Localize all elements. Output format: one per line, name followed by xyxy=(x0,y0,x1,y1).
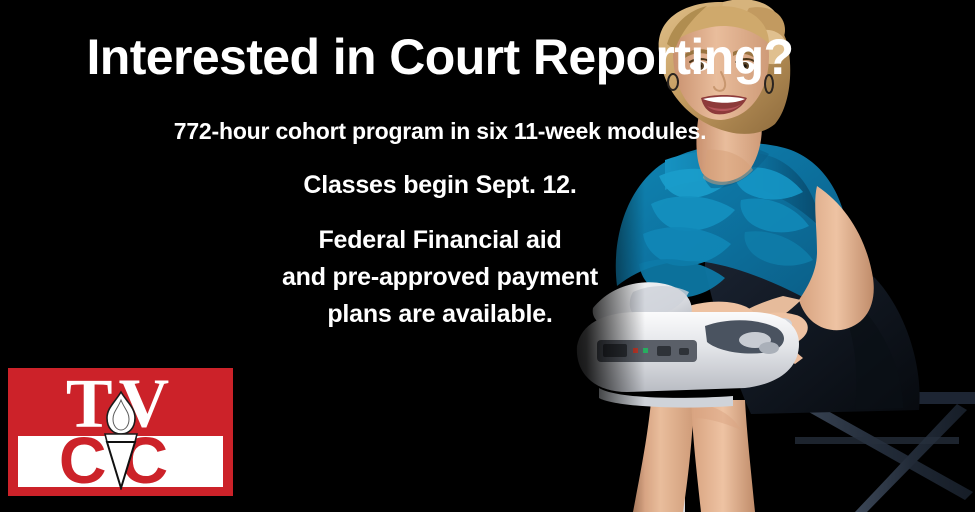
financial-aid-line-1: Federal Financial aid xyxy=(318,226,561,254)
financial-aid-line-3: plans are available. xyxy=(327,300,552,328)
photo-woman-at-stenotype-machine xyxy=(555,0,975,512)
torch-icon xyxy=(93,390,149,490)
photo-illustration xyxy=(555,0,975,512)
promotional-banner: Interested in Court Reporting? 772-hour … xyxy=(0,0,975,512)
financial-aid-line-2: and pre-approved payment xyxy=(282,263,598,291)
tvcc-logo[interactable]: TV CC xyxy=(8,368,233,496)
